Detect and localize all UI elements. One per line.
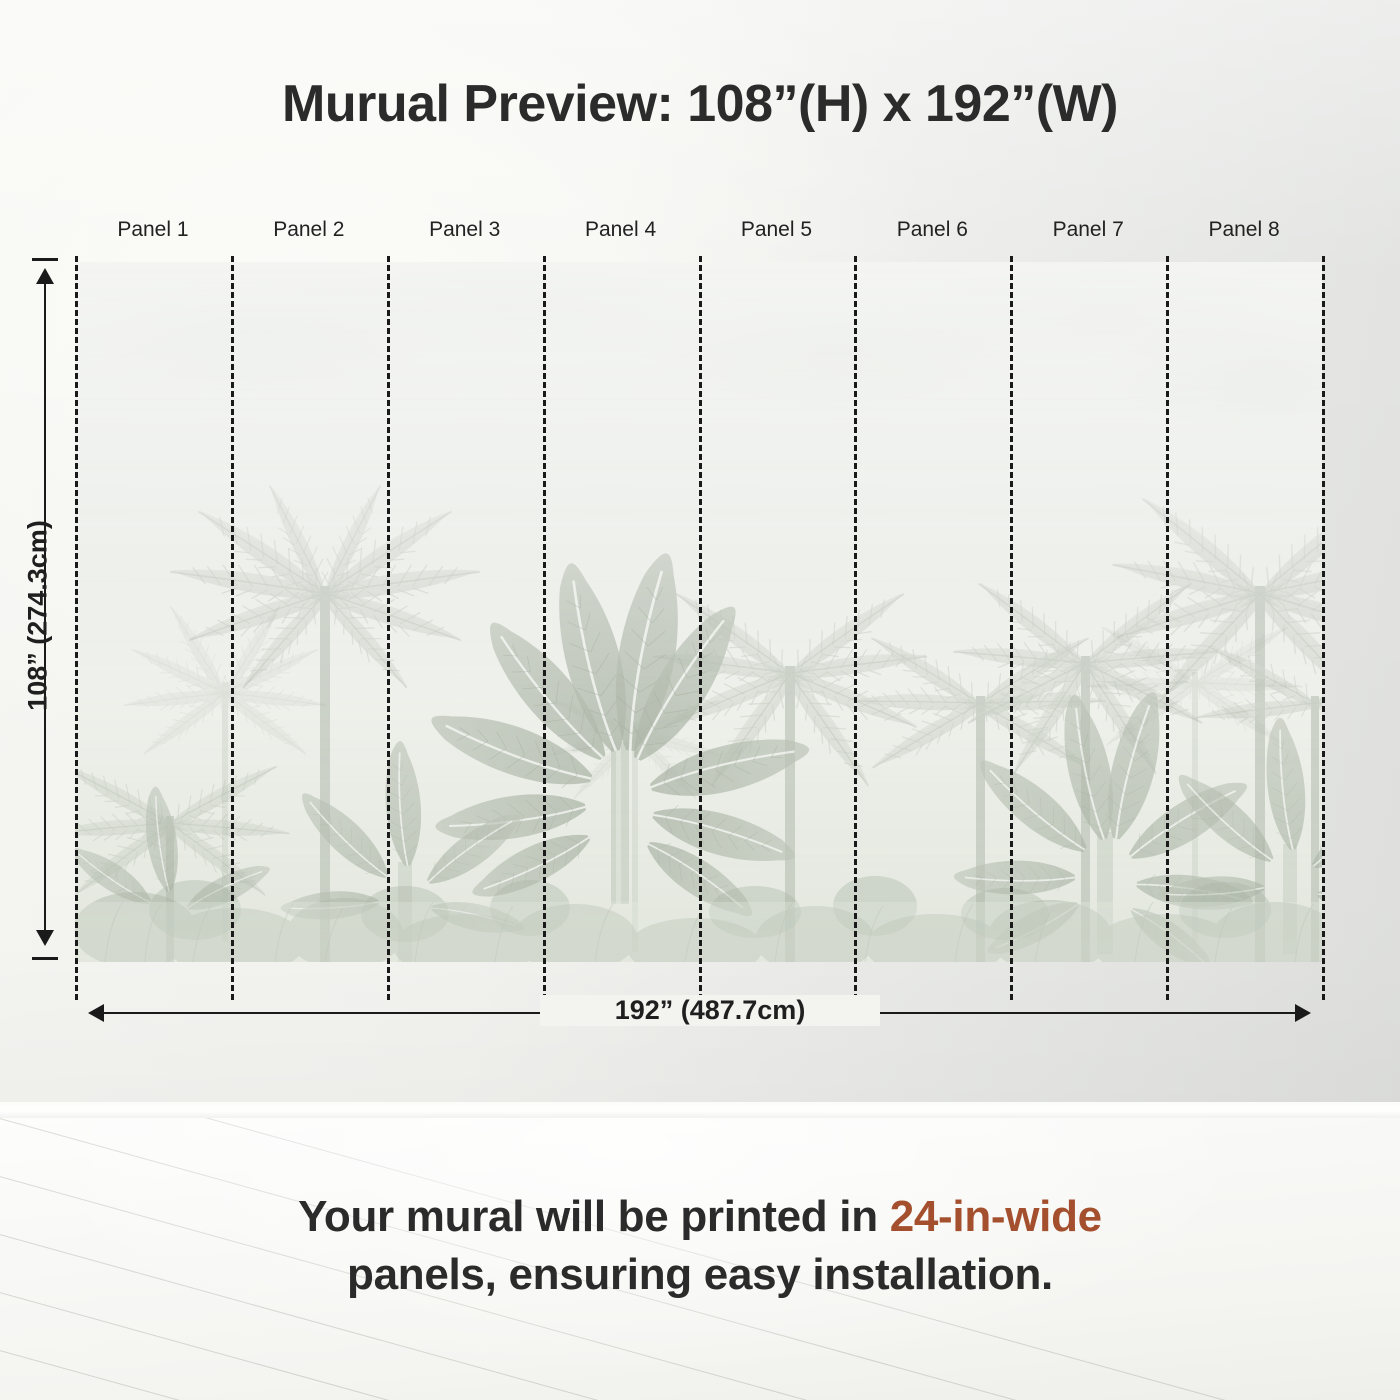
panel-label-5: Panel 5 — [699, 218, 855, 242]
panel-label-7: Panel 7 — [1010, 218, 1166, 242]
width-arrowhead-left — [88, 1004, 104, 1022]
height-cap-top — [32, 258, 58, 261]
baseboard — [0, 1102, 1400, 1118]
caption-text: Your mural will be printed in 24-in-wide… — [0, 1188, 1400, 1304]
height-dimension-label: 108” (274.3cm) — [23, 486, 54, 746]
height-arrowhead-bottom — [36, 930, 54, 946]
caption-highlight: 24-in-wide — [890, 1192, 1102, 1241]
panel-label-2: Panel 2 — [231, 218, 387, 242]
panel-label-8: Panel 8 — [1166, 218, 1322, 242]
panel-divider-1 — [231, 256, 234, 1000]
caption-line2: panels, ensuring easy installation. — [347, 1250, 1053, 1299]
height-cap-bottom — [32, 957, 58, 960]
width-arrowhead-right — [1295, 1004, 1311, 1022]
panel-divider-7 — [1166, 256, 1169, 1000]
panel-divider-0 — [75, 256, 78, 1000]
page-title: Murual Preview: 108”(H) x 192”(W) — [0, 74, 1400, 134]
panel-divider-6 — [1010, 256, 1013, 1000]
panel-divider-5 — [854, 256, 857, 1000]
panel-divider-8 — [1322, 256, 1325, 1000]
panel-label-1: Panel 1 — [75, 218, 231, 242]
caption-line1-before: Your mural will be printed in — [298, 1192, 890, 1241]
panel-divider-2 — [387, 256, 390, 1000]
panel-divider-4 — [699, 256, 702, 1000]
panel-label-6: Panel 6 — [854, 218, 1010, 242]
panel-divider-3 — [543, 256, 546, 1000]
panel-label-3: Panel 3 — [387, 218, 543, 242]
floor-plank-seam — [0, 1394, 1400, 1400]
panel-label-4: Panel 4 — [543, 218, 699, 242]
width-dimension-label: 192” (487.7cm) — [540, 995, 880, 1026]
